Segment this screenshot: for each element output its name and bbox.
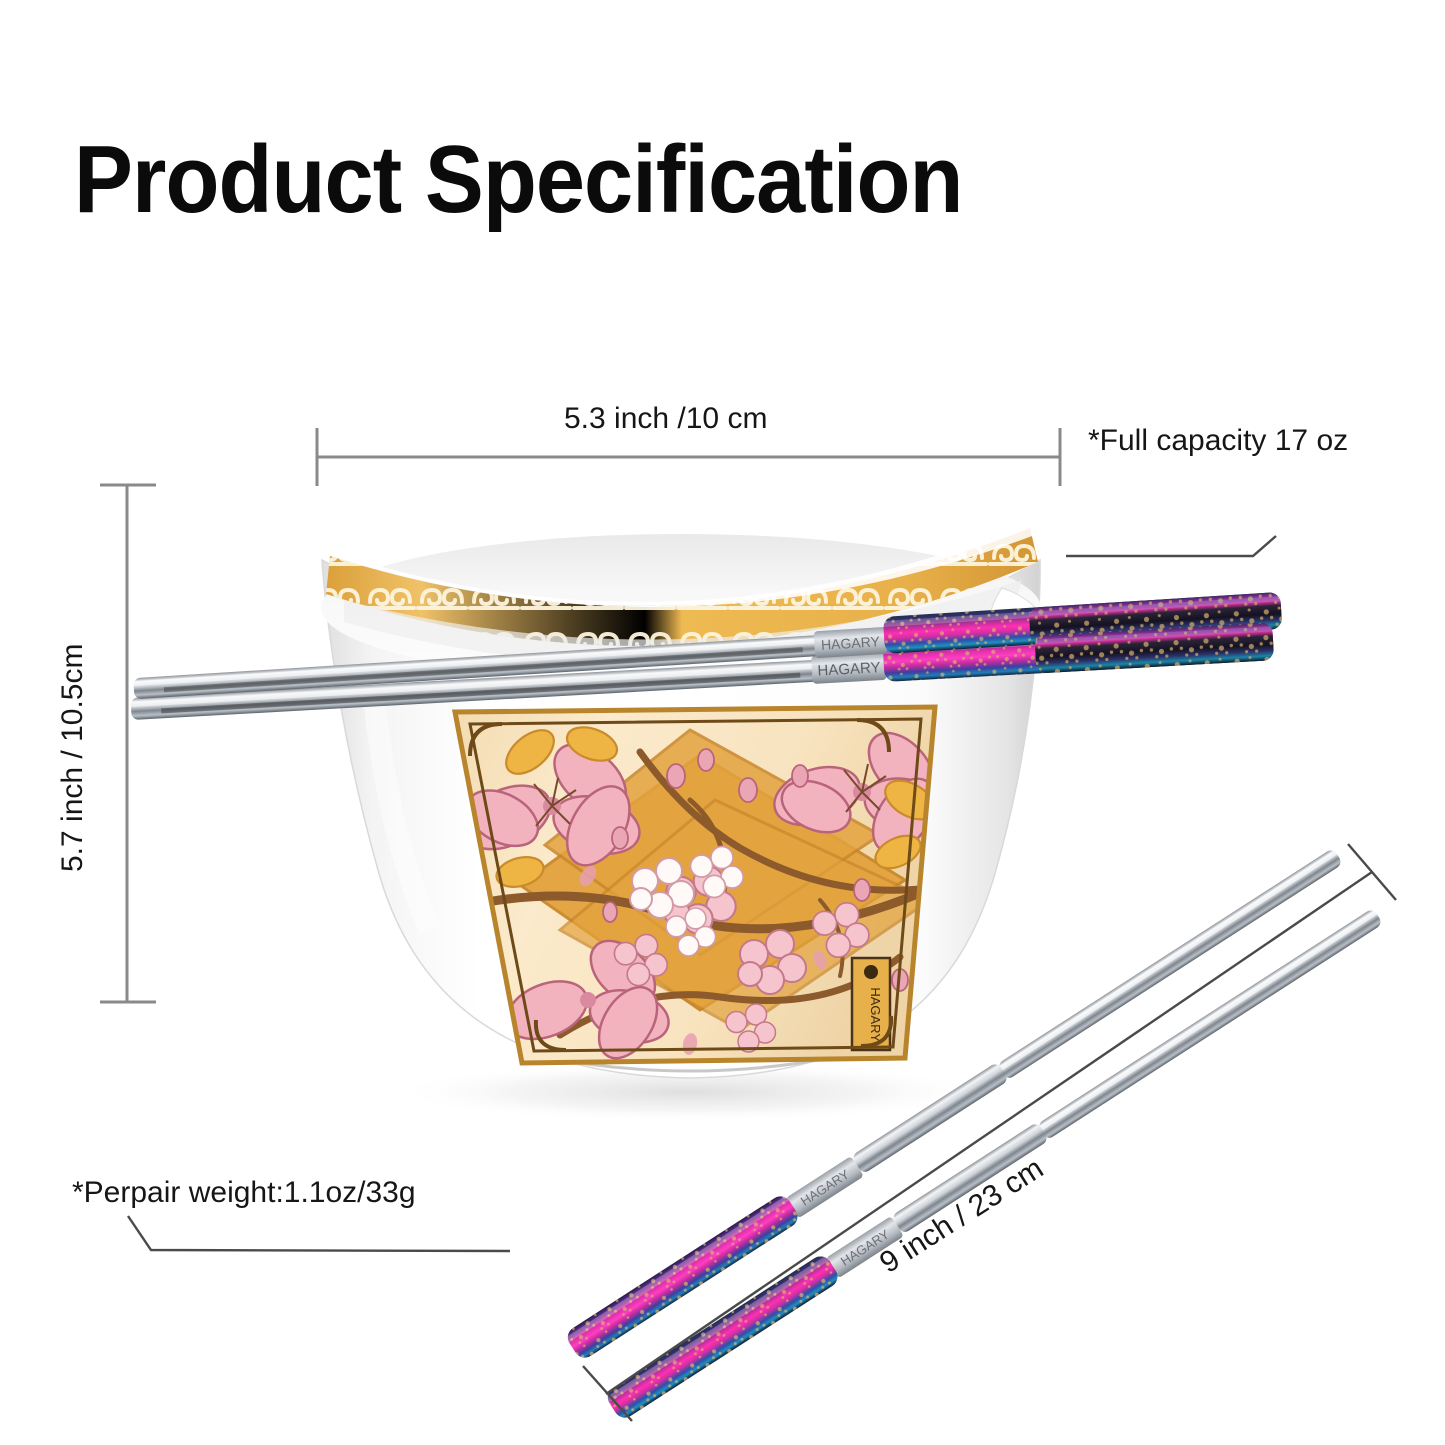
chopstick-weight-label: *Perpair weight:1.1oz/33g bbox=[72, 1176, 416, 1210]
chopstick-length-dimension-line bbox=[606, 872, 1372, 1394]
capacity-label: *Full capacity 17 oz bbox=[1088, 424, 1348, 458]
capacity-leader-line bbox=[1066, 536, 1276, 556]
chopstick-length-tick-lower bbox=[583, 1366, 632, 1421]
dimension-lines bbox=[0, 0, 1445, 1445]
chopstick-length-tick-upper bbox=[1348, 844, 1396, 900]
product-specification-page: Product Specification bbox=[0, 0, 1445, 1445]
bowl-width-label: 5.3 inch /10 cm bbox=[564, 402, 767, 436]
bowl-height-label: 5.7 inch / 10.5cm bbox=[56, 644, 90, 872]
weight-leader-line bbox=[128, 1216, 510, 1251]
